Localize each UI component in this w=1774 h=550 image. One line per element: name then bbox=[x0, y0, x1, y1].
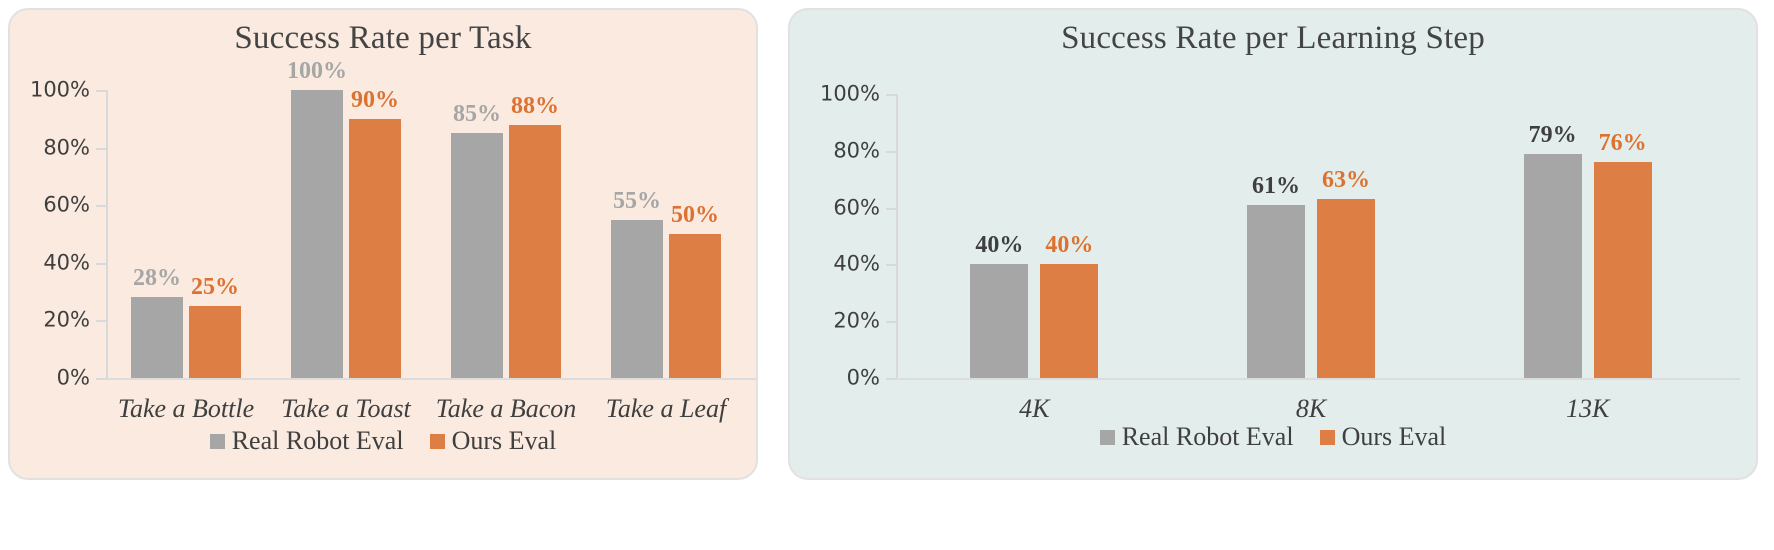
y-axis-tick-label: 0% bbox=[847, 366, 880, 390]
bar-group: 28%25%Take a Bottle bbox=[106, 90, 266, 378]
bar-value-label: 100% bbox=[287, 58, 347, 85]
legend-item-real-robot-eval[interactable]: Real Robot Eval bbox=[1100, 422, 1294, 452]
x-axis-category-label: 8K bbox=[1296, 394, 1326, 424]
legend-label: Ours Eval bbox=[1342, 422, 1447, 452]
bar-value-label: 55% bbox=[613, 188, 661, 215]
x-axis-category-label: Take a Bacon bbox=[436, 394, 577, 424]
bar-real-robot-eval[interactable]: 61% bbox=[1247, 205, 1305, 378]
legend-label: Ours Eval bbox=[452, 426, 557, 456]
bar-real-robot-eval[interactable]: 100% bbox=[291, 90, 343, 378]
bar-value-label: 85% bbox=[453, 101, 501, 128]
y-axis-tick-label: 100% bbox=[820, 82, 880, 106]
y-axis-tick bbox=[886, 94, 896, 96]
y-axis-tick bbox=[886, 208, 896, 210]
bar-ours-eval[interactable]: 90% bbox=[349, 119, 401, 378]
right-x-axis-line bbox=[896, 378, 1740, 380]
bar-real-robot-eval[interactable]: 55% bbox=[611, 220, 663, 378]
bar-group: 79%76%13K bbox=[1449, 94, 1726, 378]
legend-item-ours-eval[interactable]: Ours Eval bbox=[1320, 422, 1447, 452]
y-axis-tick-label: 60% bbox=[43, 193, 90, 217]
left-chart-panel: Success Rate per Task 0%20%40%60%80%100%… bbox=[8, 8, 758, 480]
legend-item-real-robot-eval[interactable]: Real Robot Eval bbox=[210, 426, 404, 456]
y-axis-tick bbox=[96, 263, 106, 265]
bar-group: 55%50%Take a Leaf bbox=[586, 90, 746, 378]
legend-swatch-icon bbox=[1320, 430, 1335, 445]
bar-group: 40%40%4K bbox=[896, 94, 1173, 378]
bar-value-label: 40% bbox=[975, 232, 1023, 259]
y-axis-tick bbox=[96, 205, 106, 207]
x-axis-category-label: Take a Bottle bbox=[118, 394, 254, 424]
y-axis-tick-label: 40% bbox=[833, 252, 880, 276]
y-axis-tick bbox=[886, 378, 896, 380]
x-axis-category-label: 4K bbox=[1019, 394, 1049, 424]
legend-label: Real Robot Eval bbox=[232, 426, 404, 456]
bar-value-label: 76% bbox=[1599, 130, 1647, 157]
y-axis-tick-label: 20% bbox=[43, 308, 90, 332]
bar-group: 100%90%Take a Toast bbox=[266, 90, 426, 378]
y-axis-tick-label: 60% bbox=[833, 195, 880, 219]
y-axis-tick-label: 0% bbox=[57, 366, 90, 390]
legend-item-ours-eval[interactable]: Ours Eval bbox=[430, 426, 557, 456]
right-legend: Real Robot EvalOurs Eval bbox=[790, 422, 1756, 452]
bar-ours-eval[interactable]: 25% bbox=[189, 306, 241, 378]
legend-swatch-icon bbox=[430, 434, 445, 449]
bar-ours-eval[interactable]: 76% bbox=[1594, 162, 1652, 378]
left-chart-title: Success Rate per Task bbox=[10, 20, 756, 57]
bar-value-label: 28% bbox=[133, 265, 181, 292]
y-axis-tick-label: 100% bbox=[30, 78, 90, 102]
bar-value-label: 63% bbox=[1322, 167, 1370, 194]
y-axis-tick bbox=[886, 264, 896, 266]
legend-swatch-icon bbox=[1100, 430, 1115, 445]
y-axis-tick-label: 80% bbox=[833, 138, 880, 162]
bar-ours-eval[interactable]: 88% bbox=[509, 125, 561, 378]
x-axis-category-label: 13K bbox=[1566, 394, 1609, 424]
bar-value-label: 90% bbox=[351, 87, 399, 114]
y-axis-tick-label: 20% bbox=[833, 309, 880, 333]
bar-value-label: 50% bbox=[671, 202, 719, 229]
bar-group: 85%88%Take a Bacon bbox=[426, 90, 586, 378]
bar-value-label: 40% bbox=[1045, 232, 1093, 259]
bar-real-robot-eval[interactable]: 85% bbox=[451, 133, 503, 378]
y-axis-tick bbox=[96, 378, 106, 380]
right-chart-title: Success Rate per Learning Step bbox=[790, 20, 1756, 57]
right-plot-area: 0%20%40%60%80%100%40%40%4K61%63%8K79%76%… bbox=[896, 94, 1726, 378]
bar-value-label: 79% bbox=[1529, 122, 1577, 149]
bar-ours-eval[interactable]: 40% bbox=[1040, 264, 1098, 378]
right-chart-panel: Success Rate per Learning Step 0%20%40%6… bbox=[788, 8, 1758, 480]
bar-real-robot-eval[interactable]: 28% bbox=[131, 297, 183, 378]
y-axis-tick-label: 80% bbox=[43, 135, 90, 159]
left-legend: Real Robot EvalOurs Eval bbox=[10, 426, 756, 456]
x-axis-category-label: Take a Leaf bbox=[606, 394, 726, 424]
y-axis-tick bbox=[886, 151, 896, 153]
left-x-axis-line bbox=[106, 378, 758, 380]
legend-label: Real Robot Eval bbox=[1122, 422, 1294, 452]
bar-value-label: 88% bbox=[511, 93, 559, 120]
y-axis-tick bbox=[886, 321, 896, 323]
bar-value-label: 61% bbox=[1252, 173, 1300, 200]
y-axis-tick-label: 40% bbox=[43, 250, 90, 274]
y-axis-tick bbox=[96, 90, 106, 92]
bar-value-label: 25% bbox=[191, 274, 239, 301]
legend-swatch-icon bbox=[210, 434, 225, 449]
left-plot-area: 0%20%40%60%80%100%28%25%Take a Bottle100… bbox=[106, 90, 746, 378]
bar-ours-eval[interactable]: 50% bbox=[669, 234, 721, 378]
y-axis-tick bbox=[96, 148, 106, 150]
x-axis-category-label: Take a Toast bbox=[281, 394, 411, 424]
y-axis-tick bbox=[96, 320, 106, 322]
bar-real-robot-eval[interactable]: 40% bbox=[970, 264, 1028, 378]
bar-real-robot-eval[interactable]: 79% bbox=[1524, 154, 1582, 378]
bar-ours-eval[interactable]: 63% bbox=[1317, 199, 1375, 378]
bar-group: 61%63%8K bbox=[1173, 94, 1450, 378]
figure-container: Success Rate per Task 0%20%40%60%80%100%… bbox=[0, 0, 1774, 550]
